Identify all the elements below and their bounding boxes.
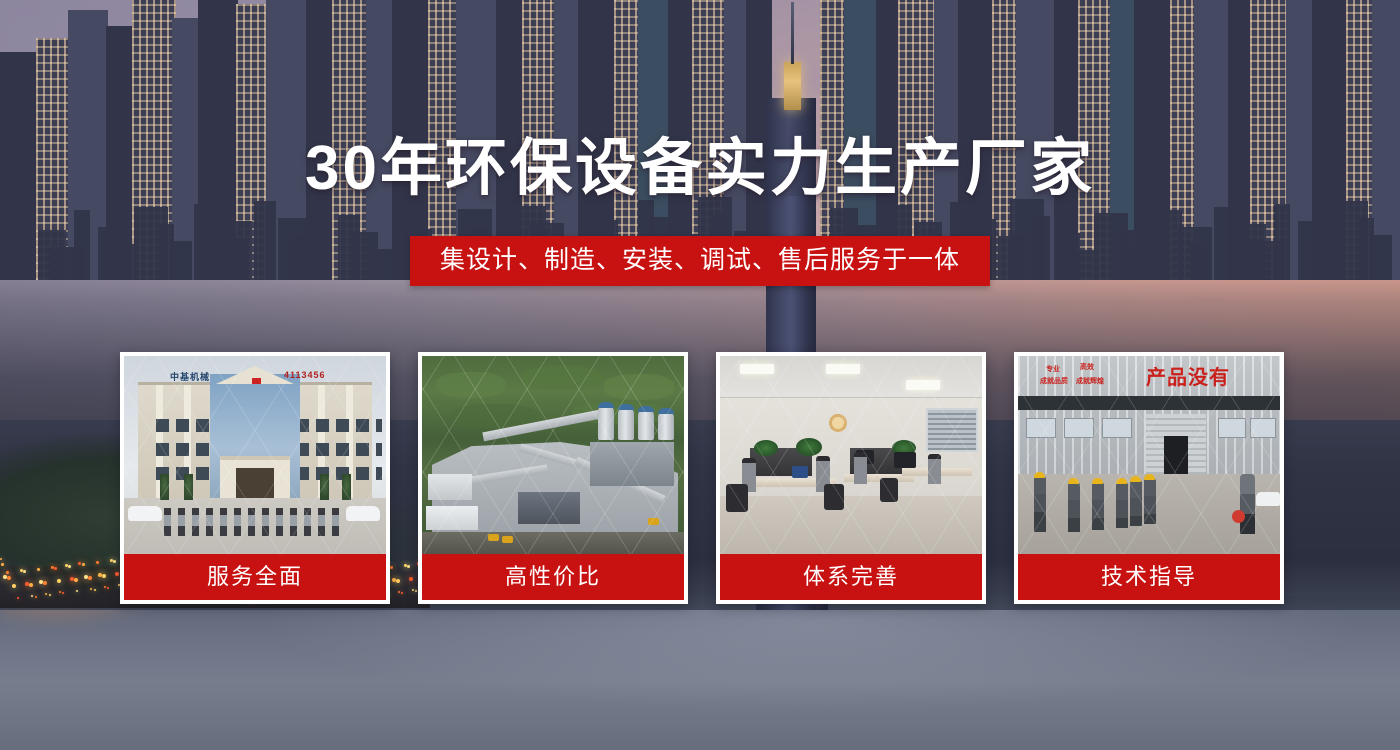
hard-hat-icon xyxy=(1068,478,1079,484)
street-light xyxy=(12,584,16,588)
street-light xyxy=(54,567,57,570)
street-light xyxy=(78,562,81,565)
street-light xyxy=(29,583,33,587)
aerial-industrial-plant-photo xyxy=(422,356,684,554)
street-light xyxy=(74,578,78,582)
street-light xyxy=(98,573,102,577)
street-light xyxy=(20,569,23,572)
building xyxy=(1190,244,1206,280)
street-light xyxy=(6,571,9,574)
street-light xyxy=(82,563,85,566)
parked-car xyxy=(1256,492,1280,506)
building xyxy=(170,241,192,280)
office-floor xyxy=(720,496,982,554)
banner-stage: 30年环保设备实力生产厂家 集设计、制造、安装、调试、售后服务于一体 xyxy=(0,0,1400,750)
building xyxy=(1034,216,1050,280)
red-helmet-icon xyxy=(1232,510,1245,523)
card-label: 技术指导 xyxy=(1018,554,1280,600)
building xyxy=(230,238,246,280)
street-light xyxy=(57,579,61,583)
worker xyxy=(1034,476,1046,532)
street-light xyxy=(37,568,40,571)
worker xyxy=(1092,482,1104,530)
factory-wall-slogan: 高效 xyxy=(1080,364,1094,372)
workers-factory-briefing-photo: 产品没有 专业 高效 成就品质 成就辉煌 xyxy=(1018,356,1280,554)
building xyxy=(1214,207,1236,280)
feature-card[interactable]: 体系完善 xyxy=(716,352,986,604)
street-light xyxy=(88,576,92,580)
street-light xyxy=(102,574,106,578)
hard-hat-icon xyxy=(1144,474,1155,480)
office-building-staff-photo: 中基机械 4113456 xyxy=(124,356,386,554)
building xyxy=(1130,247,1152,280)
street-light xyxy=(35,596,37,598)
street-light xyxy=(1,563,4,566)
street-light xyxy=(7,576,11,580)
hard-hat-icon xyxy=(1116,478,1127,484)
office-interior-staff-photo xyxy=(720,356,982,554)
hard-hat-icon xyxy=(1130,476,1141,482)
street-light xyxy=(62,592,64,594)
page-title: 30年环保设备实力生产厂家 xyxy=(0,132,1400,206)
building xyxy=(14,213,36,280)
tower-antenna-spire xyxy=(791,2,794,64)
street-light xyxy=(23,570,26,573)
building xyxy=(0,250,6,280)
street-light xyxy=(45,593,47,595)
factory-wall-slogan: 成就辉煌 xyxy=(1076,378,1104,386)
worker xyxy=(1068,482,1080,532)
subtitle-ribbon: 集设计、制造、安装、调试、售后服务于一体 xyxy=(410,236,990,286)
hard-hat-icon xyxy=(1034,472,1045,478)
street-light xyxy=(68,565,71,568)
factory-window-band xyxy=(1018,396,1280,410)
company-sign-text: 中基机械 xyxy=(170,370,210,383)
tower-lit-crown xyxy=(784,62,801,110)
plant-warehouse xyxy=(590,442,674,486)
street-light xyxy=(94,589,96,591)
plant-shed xyxy=(518,492,580,524)
factory-wall-slogan: 成就品质 xyxy=(1040,378,1068,386)
hard-hat-icon xyxy=(1092,478,1103,484)
street-light xyxy=(113,560,116,563)
building xyxy=(1370,235,1392,280)
supervisor xyxy=(1240,474,1255,534)
wall-emblem xyxy=(824,412,852,438)
laptop xyxy=(792,466,808,478)
factory-wall-slogan: 专业 xyxy=(1046,366,1060,374)
plant-access-road xyxy=(422,532,684,554)
street-light xyxy=(90,588,92,590)
street-light xyxy=(59,591,61,593)
street-light xyxy=(115,572,119,576)
card-label: 高性价比 xyxy=(422,554,684,600)
street-light xyxy=(107,587,109,589)
street-light xyxy=(96,561,99,564)
office-ceiling xyxy=(720,356,982,398)
factory-wall-big-text: 产品没有 xyxy=(1146,361,1230,390)
building xyxy=(1274,204,1290,280)
worker xyxy=(1130,480,1142,526)
building xyxy=(254,201,276,280)
feature-card-row: 中基机械 4113456 服务全面 xyxy=(120,352,1278,604)
street-light xyxy=(104,586,106,588)
street-light xyxy=(110,559,113,562)
plant-office xyxy=(426,506,478,530)
computer-monitor xyxy=(894,452,916,468)
company-phone-text: 4113456 xyxy=(284,370,326,380)
building-door xyxy=(236,468,274,498)
factory-door xyxy=(1164,436,1188,474)
feature-card[interactable]: 产品没有 专业 高效 成就品质 成就辉煌 xyxy=(1014,352,1284,604)
worker xyxy=(1144,478,1156,524)
building xyxy=(74,210,90,280)
card-label: 体系完善 xyxy=(720,554,982,600)
street-light xyxy=(76,590,78,592)
street-light xyxy=(31,595,33,597)
street-light xyxy=(65,564,68,567)
worker xyxy=(1116,482,1128,528)
window-blinds xyxy=(926,408,978,452)
card-label: 服务全面 xyxy=(124,554,386,600)
street-light xyxy=(0,558,2,560)
building xyxy=(314,198,330,280)
flag-icon xyxy=(252,378,261,384)
street-light xyxy=(49,594,51,596)
street-light xyxy=(43,581,47,585)
street-light xyxy=(17,597,19,599)
street-light xyxy=(51,566,54,569)
plant-office xyxy=(428,474,472,500)
feature-card[interactable]: 高性价比 xyxy=(418,352,688,604)
feature-card[interactable]: 中基机械 4113456 服务全面 xyxy=(120,352,390,604)
